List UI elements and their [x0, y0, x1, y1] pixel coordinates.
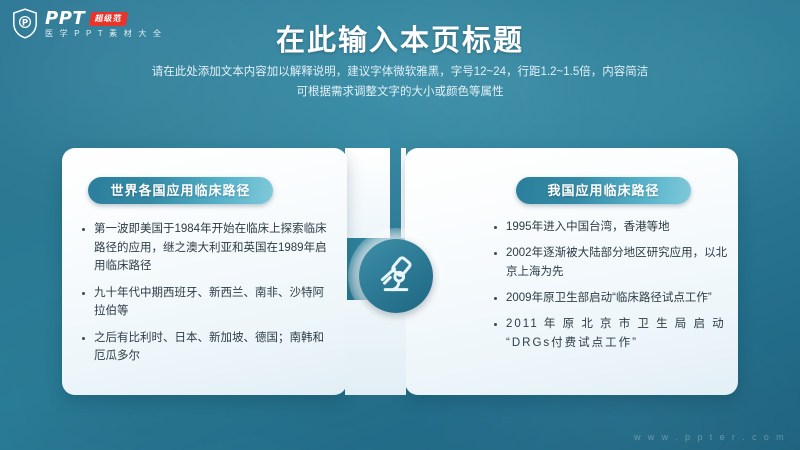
svg-text:P: P [22, 19, 28, 29]
subtitle-line-2: 可根据需求调整文字的大小或颜色等属性 [0, 82, 800, 102]
panel-world-list: 第一波即美国于1984年开始在临床上探索临床路径的应用，继之澳大利亚和英国在19… [82, 220, 327, 374]
list-item-text: 2002年逐渐被大陆部分地区研究应用，以北京上海为先 [506, 244, 729, 282]
shield-icon: P [12, 8, 38, 39]
list-item-text: 2011 年 原 北 京 市 卫 生 局 启 动 “DRGs付费试点工作” [506, 315, 729, 353]
bullet-dot-icon [494, 323, 497, 326]
page-subtitle: 请在此处添加文本内容加以解释说明，建议字体微软雅黑，字号12~24，行距1.2~… [0, 62, 800, 102]
bullet-dot-icon [494, 226, 497, 229]
list-item: 九十年代中期西班牙、新西兰、南非、沙特阿拉伯等 [82, 284, 327, 321]
panel-china-list: 1995年进入中国台湾，香港等地 2002年逐渐被大陆部分地区研究应用，以北京上… [494, 218, 729, 360]
brand-logo[interactable]: P PPT 超级范 医 学 P P T 素 材 大 全 [12, 8, 163, 39]
center-icon-badge [348, 228, 444, 324]
bullet-dot-icon [494, 252, 497, 255]
list-item-text: 之后有比利时、日本、新加坡、德国；南韩和厄瓜多尔 [94, 329, 327, 366]
list-item-text: 九十年代中期西班牙、新西兰、南非、沙特阿拉伯等 [94, 284, 327, 321]
list-item-text: 第一波即美国于1984年开始在临床上探索临床路径的应用，继之澳大利亚和英国在19… [94, 220, 327, 276]
panel-china-heading[interactable]: 我国应用临床路径 [516, 177, 691, 204]
site-watermark: w w w . p p t e r . c o m [634, 432, 786, 442]
list-item: 2009年原卫生部启动“临床路径试点工作” [494, 289, 729, 308]
logo-tagline: 医 学 P P T 素 材 大 全 [45, 30, 163, 38]
bullet-dot-icon [82, 292, 85, 295]
list-item-text: 2009年原卫生部启动“临床路径试点工作” [506, 289, 712, 308]
connector-stem [390, 90, 401, 240]
microscope-icon [359, 239, 433, 313]
list-item-text: 1995年进入中国台湾，香港等地 [506, 218, 670, 237]
logo-brand-text: PPT [45, 10, 85, 28]
list-item: 1995年进入中国台湾，香港等地 [494, 218, 729, 237]
bullet-dot-icon [494, 297, 497, 300]
subtitle-line-1: 请在此处添加文本内容加以解释说明，建议字体微软雅黑，字号12~24，行距1.2~… [0, 62, 800, 82]
bullet-dot-icon [82, 337, 85, 340]
logo-badge: 超级范 [89, 12, 128, 26]
list-item: 第一波即美国于1984年开始在临床上探索临床路径的应用，继之澳大利亚和英国在19… [82, 220, 327, 276]
list-item: 2011 年 原 北 京 市 卫 生 局 启 动 “DRGs付费试点工作” [494, 315, 729, 353]
list-item: 之后有比利时、日本、新加坡、德国；南韩和厄瓜多尔 [82, 329, 327, 366]
list-item: 2002年逐渐被大陆部分地区研究应用，以北京上海为先 [494, 244, 729, 282]
bullet-dot-icon [82, 228, 85, 231]
slide-canvas: P PPT 超级范 医 学 P P T 素 材 大 全 在此输入本页标题 请在此… [0, 0, 800, 450]
panel-world-heading[interactable]: 世界各国应用临床路径 [88, 177, 273, 204]
